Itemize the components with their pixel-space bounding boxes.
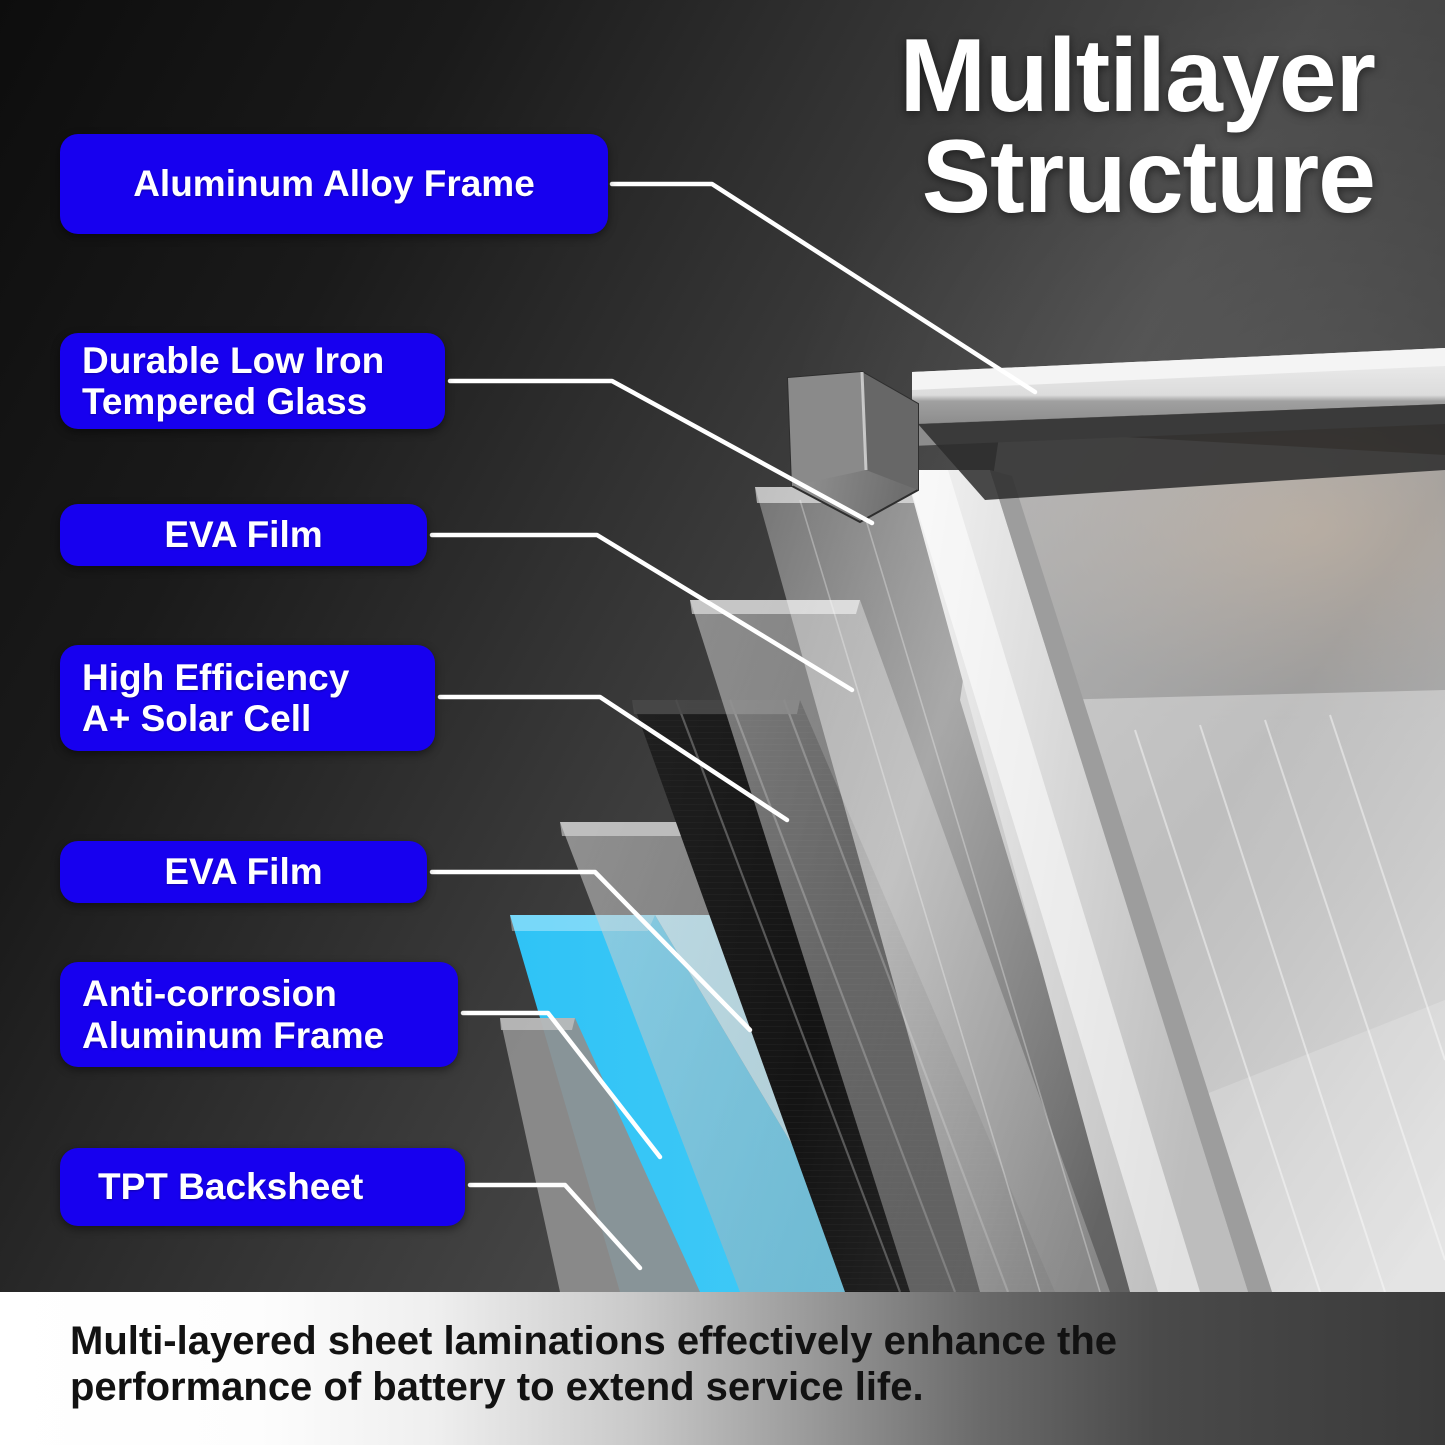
caption-band: Multi-layered sheet laminations effectiv… [0,1292,1445,1445]
page-title: Multilayer Structure [675,26,1375,228]
label-tpt-backsheet[interactable]: TPT Backsheet [60,1148,465,1226]
caption-text: Multi-layered sheet laminations effectiv… [70,1318,1370,1411]
label-high-efficiency-solar-cell[interactable]: High Efficiency A+ Solar Cell [60,645,435,751]
label-eva-film-lower[interactable]: EVA Film [60,841,427,903]
infographic-canvas: Multilayer Structure Aluminum Alloy Fram… [0,0,1445,1445]
label-aluminum-alloy-frame[interactable]: Aluminum Alloy Frame [60,134,608,234]
label-durable-low-iron-tempered-glass[interactable]: Durable Low Iron Tempered Glass [60,333,445,429]
label-anti-corrosion-aluminum-frame[interactable]: Anti-corrosion Aluminum Frame [60,962,458,1067]
label-eva-film-upper[interactable]: EVA Film [60,504,427,566]
